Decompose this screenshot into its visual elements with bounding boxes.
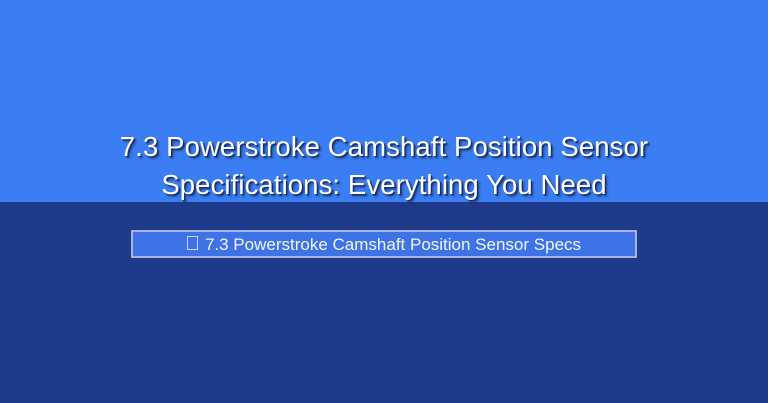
- article-topic-chip-label: 7.3 Powerstroke Camshaft Position Sensor…: [205, 236, 581, 253]
- article-topic-chip[interactable]: 7.3 Powerstroke Camshaft Position Sensor…: [131, 230, 637, 258]
- hero-top-band: [0, 0, 768, 202]
- page-root: 7.3 Powerstroke Camshaft Position Sensor…: [0, 0, 768, 403]
- missing-glyph-box-icon: [187, 236, 198, 250]
